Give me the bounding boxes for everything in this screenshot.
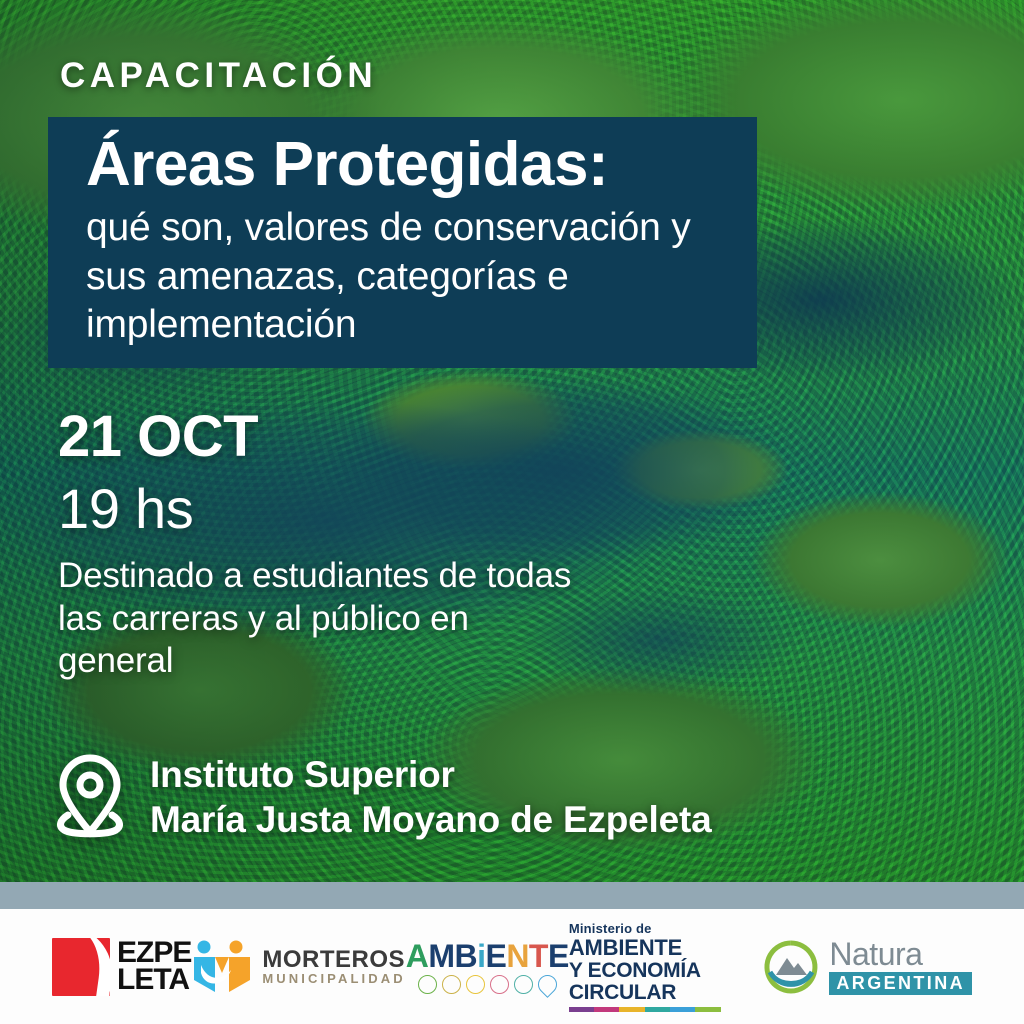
ambiente-icon-row xyxy=(418,975,557,994)
morteros-people-icon xyxy=(191,940,253,994)
ministerio-line-1: Ministerio de xyxy=(569,921,652,936)
natura-wordmark: Natura ARGENTINA xyxy=(829,938,972,995)
logo-ministerio: Ministerio de AMBIENTE Y ECONOMÍA CIRCUL… xyxy=(569,921,764,1011)
venue-line-1: Instituto Superior xyxy=(150,752,712,797)
ambiente-letter-1: M xyxy=(428,938,454,974)
paw-icon xyxy=(490,975,509,994)
venue-block: Instituto Superior María Justa Moyano de… xyxy=(52,752,712,842)
natura-line-2: ARGENTINA xyxy=(829,972,972,995)
logo-natura: Natura ARGENTINA xyxy=(763,938,972,995)
ministerio-color-bar xyxy=(569,1007,721,1012)
leaf-icon xyxy=(442,975,461,994)
morteros-wordmark: MORTEROS MUNICIPALIDAD xyxy=(262,948,405,985)
ambiente-letter-7: E xyxy=(548,938,569,974)
ezpeleta-mark-icon xyxy=(52,938,110,996)
event-audience: Destinado a estudiantes de todas las car… xyxy=(58,555,578,683)
venue-line-2: María Justa Moyano de Ezpeleta xyxy=(150,797,712,842)
bulb-icon xyxy=(466,975,485,994)
logo-ambiente: AMBiENTE xyxy=(406,940,569,994)
ambiente-wordmark: AMBiENTE xyxy=(406,940,569,972)
title-panel: Áreas Protegidas: qué son, valores de co… xyxy=(48,117,757,368)
water-drop-icon xyxy=(534,971,561,998)
ambiente-letter-4: E xyxy=(485,938,506,974)
event-date: 21 OCT xyxy=(58,403,258,470)
ambiente-letter-5: N xyxy=(506,938,529,974)
divider-bar xyxy=(0,882,1024,909)
ambiente-letter-0: A xyxy=(406,938,429,974)
ambiente-letter-6: T xyxy=(529,938,548,974)
natura-circle-mountain-icon xyxy=(763,939,819,995)
page-title: Áreas Protegidas: xyxy=(86,133,731,196)
logo-ezpeleta: EZPE LETA xyxy=(52,938,191,996)
ministerio-line-3: Y ECONOMÍA CIRCULAR xyxy=(569,960,764,1004)
recycle-icon xyxy=(514,975,533,994)
event-time: 19 hs xyxy=(58,476,194,541)
morteros-line-1: MORTEROS xyxy=(262,948,405,972)
poster-root: CAPACITACIÓN Áreas Protegidas: qué son, … xyxy=(0,0,1024,1024)
map-pin-icon xyxy=(52,752,128,842)
logo-strip: EZPE LETA MORTEROS MUNICIPALIDAD AMBiENT… xyxy=(0,909,1024,1024)
natura-line-1: Natura xyxy=(829,938,972,970)
venue-name: Instituto Superior María Justa Moyano de… xyxy=(150,752,712,842)
morteros-line-2: MUNICIPALIDAD xyxy=(262,972,405,985)
ambiente-letter-2: B xyxy=(454,938,477,974)
page-subtitle: qué son, valores de conservación y sus a… xyxy=(86,204,731,349)
ezpeleta-wordmark: EZPE LETA xyxy=(117,940,191,993)
globe-icon xyxy=(418,975,437,994)
ministerio-line-2: AMBIENTE xyxy=(569,936,682,959)
logo-morteros: MORTEROS MUNICIPALIDAD xyxy=(191,940,405,994)
eyebrow-label: CAPACITACIÓN xyxy=(60,56,377,96)
ezpeleta-line-2: LETA xyxy=(117,967,191,993)
